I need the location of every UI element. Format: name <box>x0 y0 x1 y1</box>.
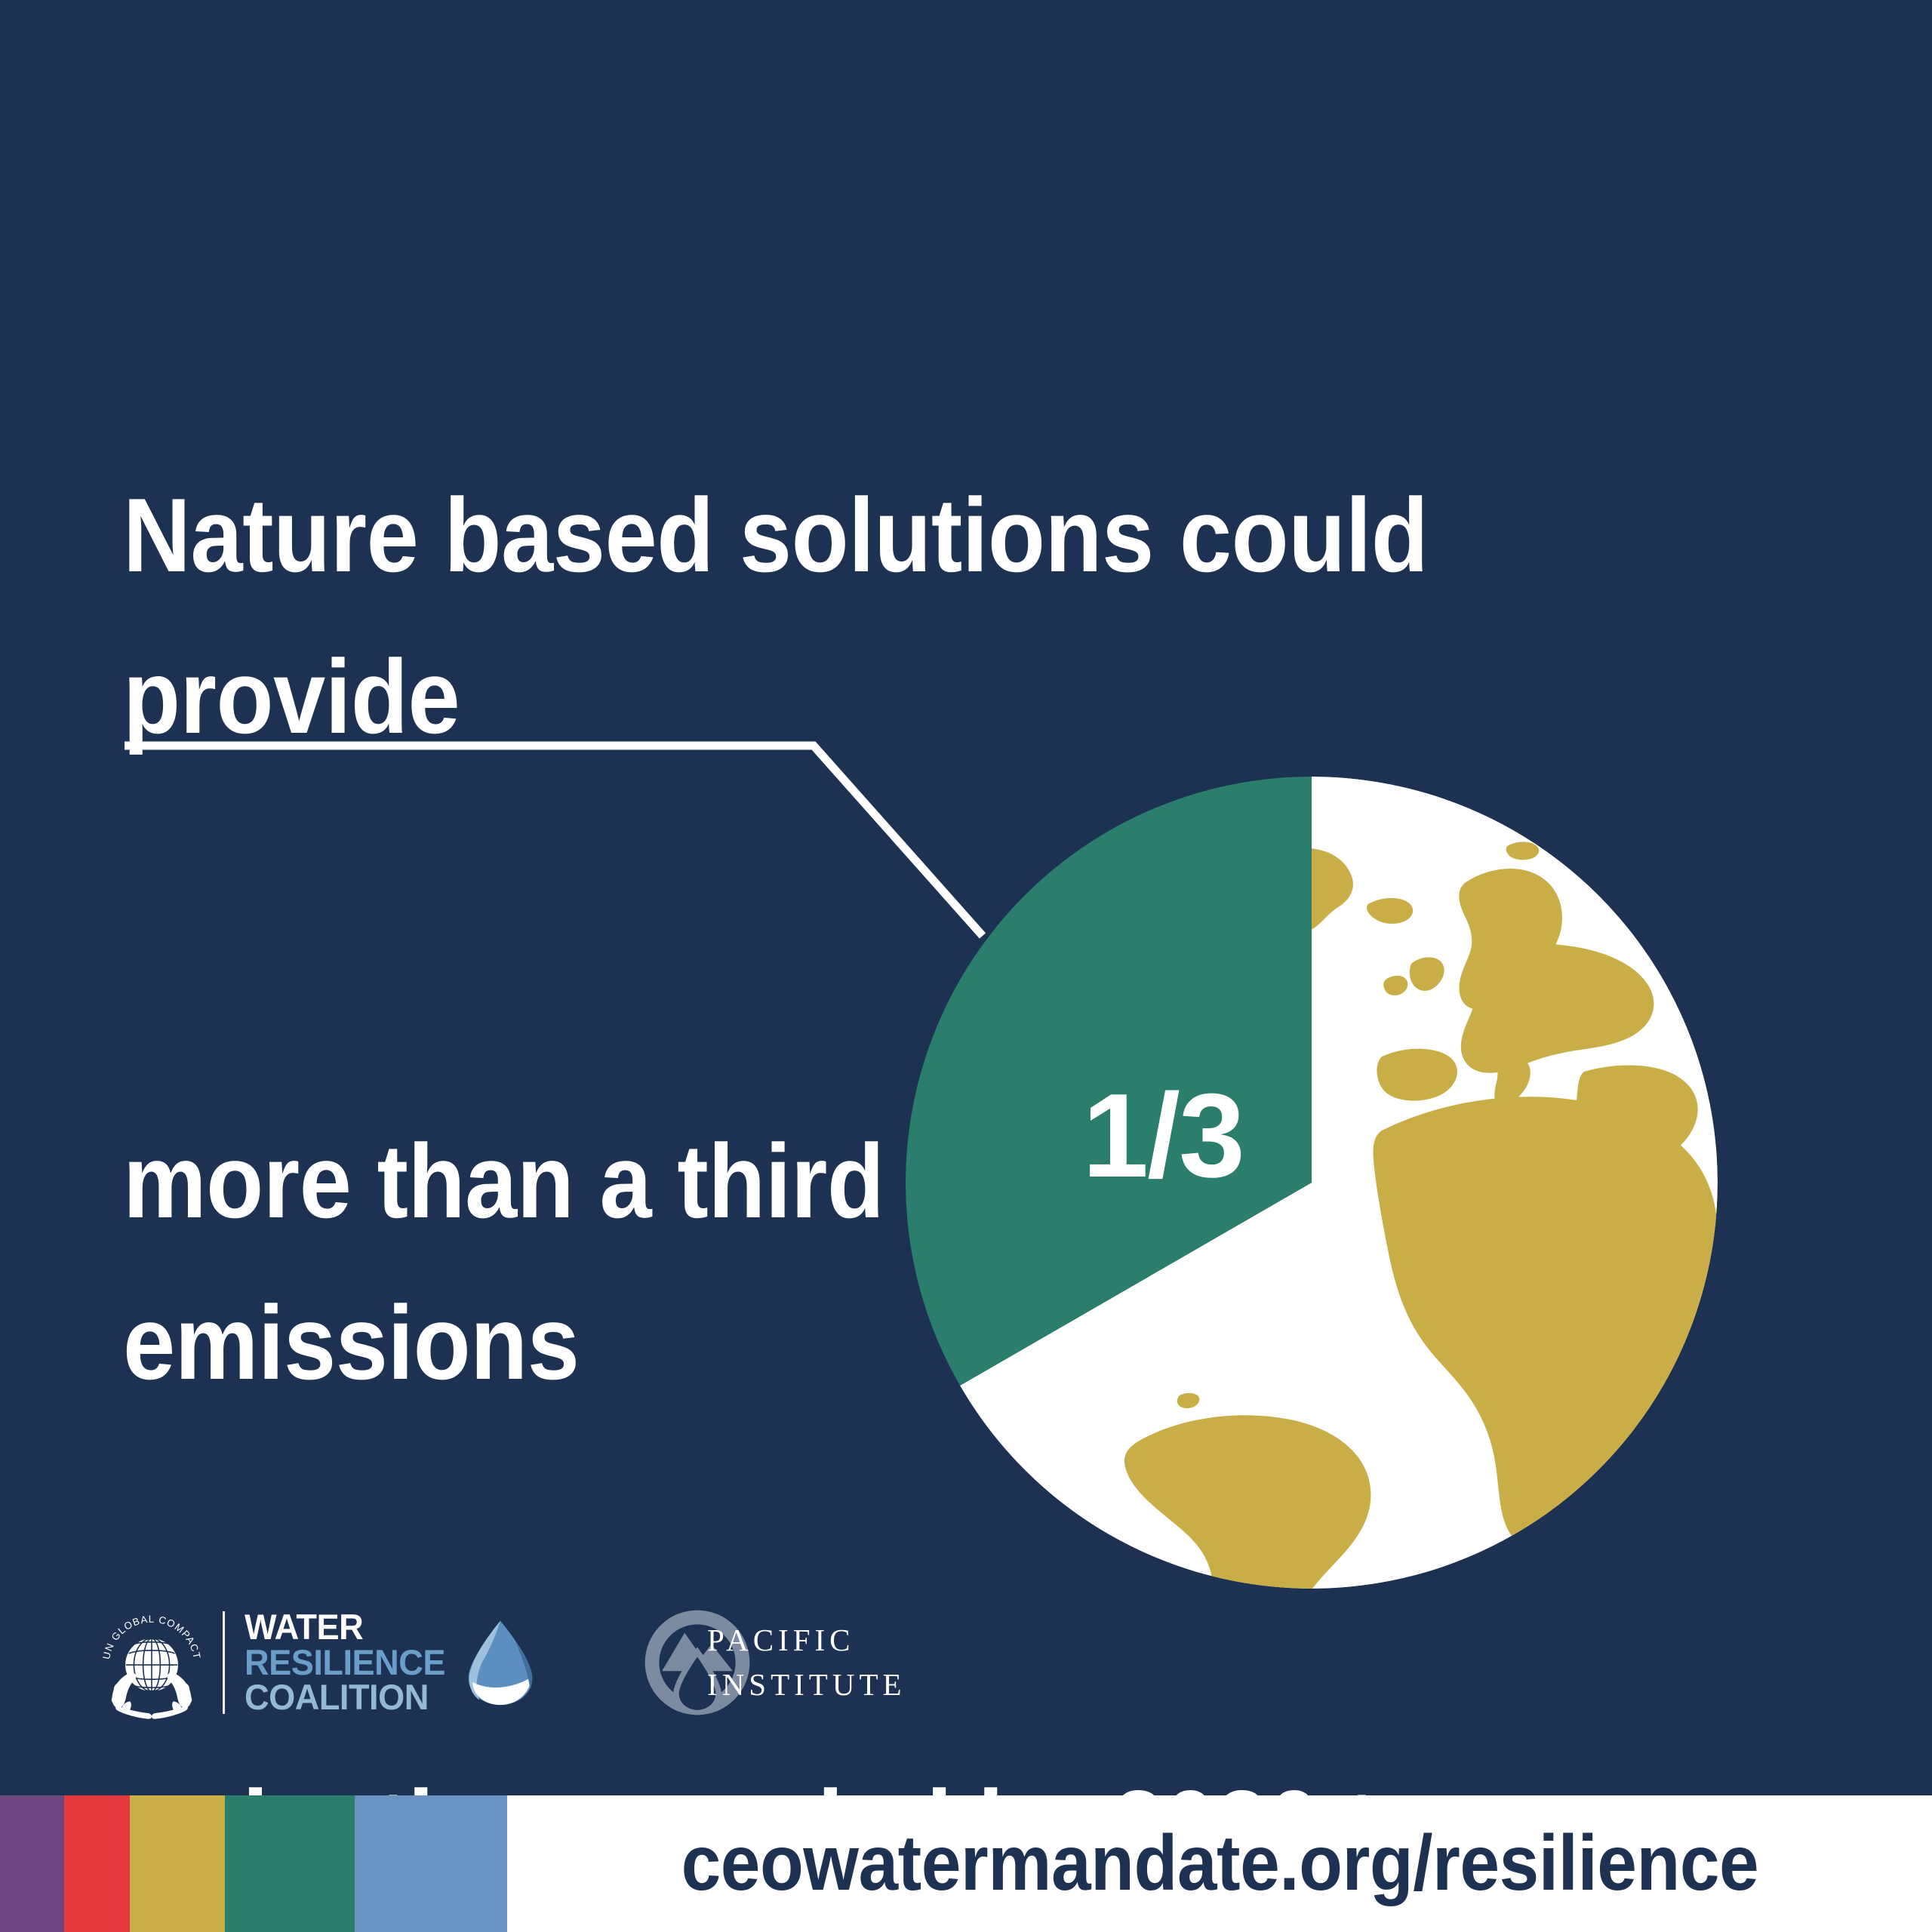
pacific-institute-wordmark: PACIFIC INSTITUTE <box>707 1618 906 1708</box>
un-globe-laurel-icon: UN GLOBAL COMPACT <box>94 1605 209 1720</box>
footer-bar: ceowatermandate.org/resilience <box>0 1795 1932 1932</box>
partner-logos: UN GLOBAL COMPACT <box>94 1598 906 1727</box>
pacific-line-1: PACIFIC <box>707 1618 906 1663</box>
footer-swatch-purple <box>0 1795 64 1932</box>
globe-pie-chart: 1/3 <box>905 776 1718 1589</box>
footer-swatch-blue <box>355 1795 507 1932</box>
logo-divider <box>223 1611 225 1714</box>
footer-swatch-teal <box>225 1795 355 1932</box>
wrc-line-coalition: COALITION <box>245 1680 445 1715</box>
headline-line-1: Nature based solutions could provide <box>123 455 1629 778</box>
pie-slice-value-label: 1/3 <box>1042 1076 1284 1195</box>
footer-url-panel[interactable]: ceowatermandate.org/resilience <box>507 1795 1932 1932</box>
pacific-institute-logo: PACIFIC INSTITUTE <box>641 1606 906 1719</box>
pacific-line-2: INSTITUTE <box>707 1663 906 1707</box>
footer-swatch-gold <box>130 1795 225 1932</box>
wrc-wordmark: WATER RESILIENCE COALITION <box>245 1610 454 1715</box>
water-droplet-icon <box>466 1618 535 1707</box>
globe-svg <box>905 776 1718 1589</box>
wrc-line-resilience: RESILIENCE <box>245 1645 445 1681</box>
water-resilience-coalition-logo: UN GLOBAL COMPACT <box>94 1605 535 1720</box>
infographic-poster: Nature based solutions could provide mor… <box>0 0 1932 1932</box>
footer-swatch-red <box>64 1795 130 1932</box>
wrc-line-water: WATER <box>245 1610 445 1645</box>
website-url[interactable]: ceowatermandate.org/resilience <box>681 1819 1758 1909</box>
